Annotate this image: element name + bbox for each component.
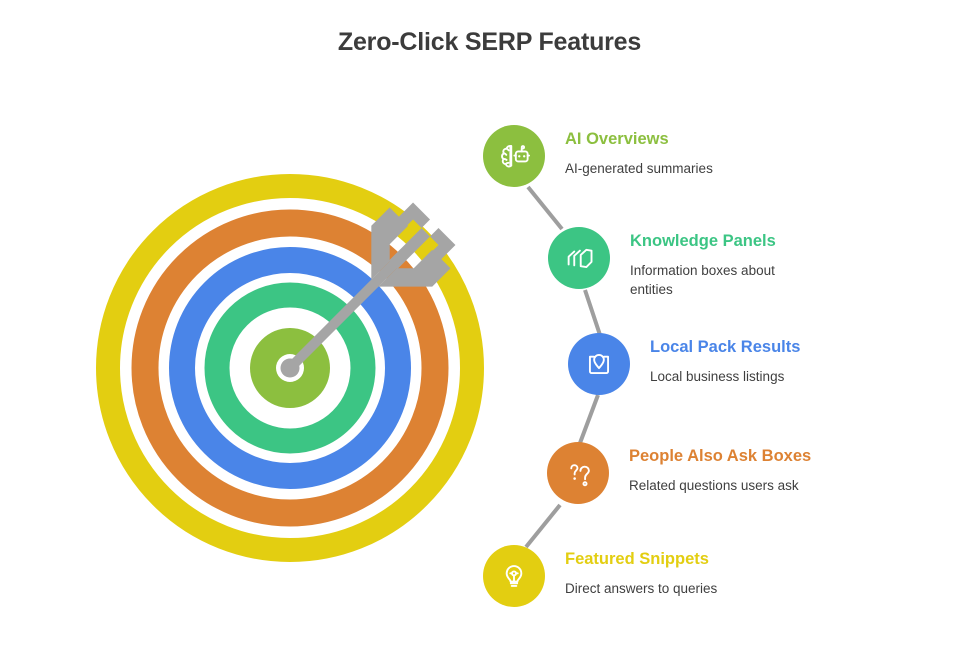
feature-badge-local-pack-results bbox=[568, 333, 630, 395]
connector-4-5 bbox=[526, 505, 560, 547]
feature-title-ai-overviews: AI Overviews bbox=[565, 130, 713, 150]
feature-text-featured-snippets: Featured Snippets Direct answers to quer… bbox=[565, 545, 717, 598]
feature-badge-people-also-ask-boxes bbox=[547, 442, 609, 504]
feature-item-knowledge-panels[interactable]: Knowledge Panels Information boxes about… bbox=[548, 227, 800, 300]
lightbulb-icon bbox=[495, 557, 533, 595]
feature-badge-knowledge-panels bbox=[548, 227, 610, 289]
feature-title-knowledge-panels: Knowledge Panels bbox=[630, 232, 800, 252]
feature-title-featured-snippets: Featured Snippets bbox=[565, 550, 717, 570]
feature-desc-ai-overviews: AI-generated summaries bbox=[565, 159, 713, 179]
feature-text-local-pack-results: Local Pack Results Local business listin… bbox=[650, 333, 800, 386]
map-pin-box-icon bbox=[580, 345, 618, 383]
feature-list: AI Overviews AI-generated summaries Know… bbox=[470, 105, 979, 630]
connector-1-2 bbox=[528, 187, 562, 229]
feature-item-featured-snippets[interactable]: Featured Snippets Direct answers to quer… bbox=[483, 545, 717, 607]
feature-title-local-pack-results: Local Pack Results bbox=[650, 338, 800, 358]
connector-3-4 bbox=[580, 395, 598, 443]
feature-badge-featured-snippets bbox=[483, 545, 545, 607]
feature-title-people-also-ask-boxes: People Also Ask Boxes bbox=[629, 447, 811, 467]
feature-desc-knowledge-panels: Information boxes about entities bbox=[630, 261, 800, 300]
feature-badge-ai-overviews bbox=[483, 125, 545, 187]
feature-desc-featured-snippets: Direct answers to queries bbox=[565, 579, 717, 599]
feature-item-people-also-ask-boxes[interactable]: People Also Ask Boxes Related questions … bbox=[547, 442, 811, 504]
page-title: Zero-Click SERP Features bbox=[0, 28, 979, 57]
feature-item-ai-overviews[interactable]: AI Overviews AI-generated summaries bbox=[483, 125, 713, 187]
feature-text-ai-overviews: AI Overviews AI-generated summaries bbox=[565, 125, 713, 178]
feature-text-people-also-ask-boxes: People Also Ask Boxes Related questions … bbox=[629, 442, 811, 495]
infographic-canvas: Zero-Click SERP Features bbox=[0, 0, 979, 662]
feature-desc-people-also-ask-boxes: Related questions users ask bbox=[629, 476, 811, 496]
layered-panels-icon bbox=[560, 239, 598, 277]
feature-item-local-pack-results[interactable]: Local Pack Results Local business listin… bbox=[568, 333, 800, 395]
double-question-mark-icon bbox=[559, 454, 597, 492]
bullseye-target-graphic bbox=[74, 152, 514, 592]
feature-text-knowledge-panels: Knowledge Panels Information boxes about… bbox=[630, 227, 800, 300]
brain-robot-icon bbox=[494, 136, 534, 176]
feature-desc-local-pack-results: Local business listings bbox=[650, 367, 800, 387]
